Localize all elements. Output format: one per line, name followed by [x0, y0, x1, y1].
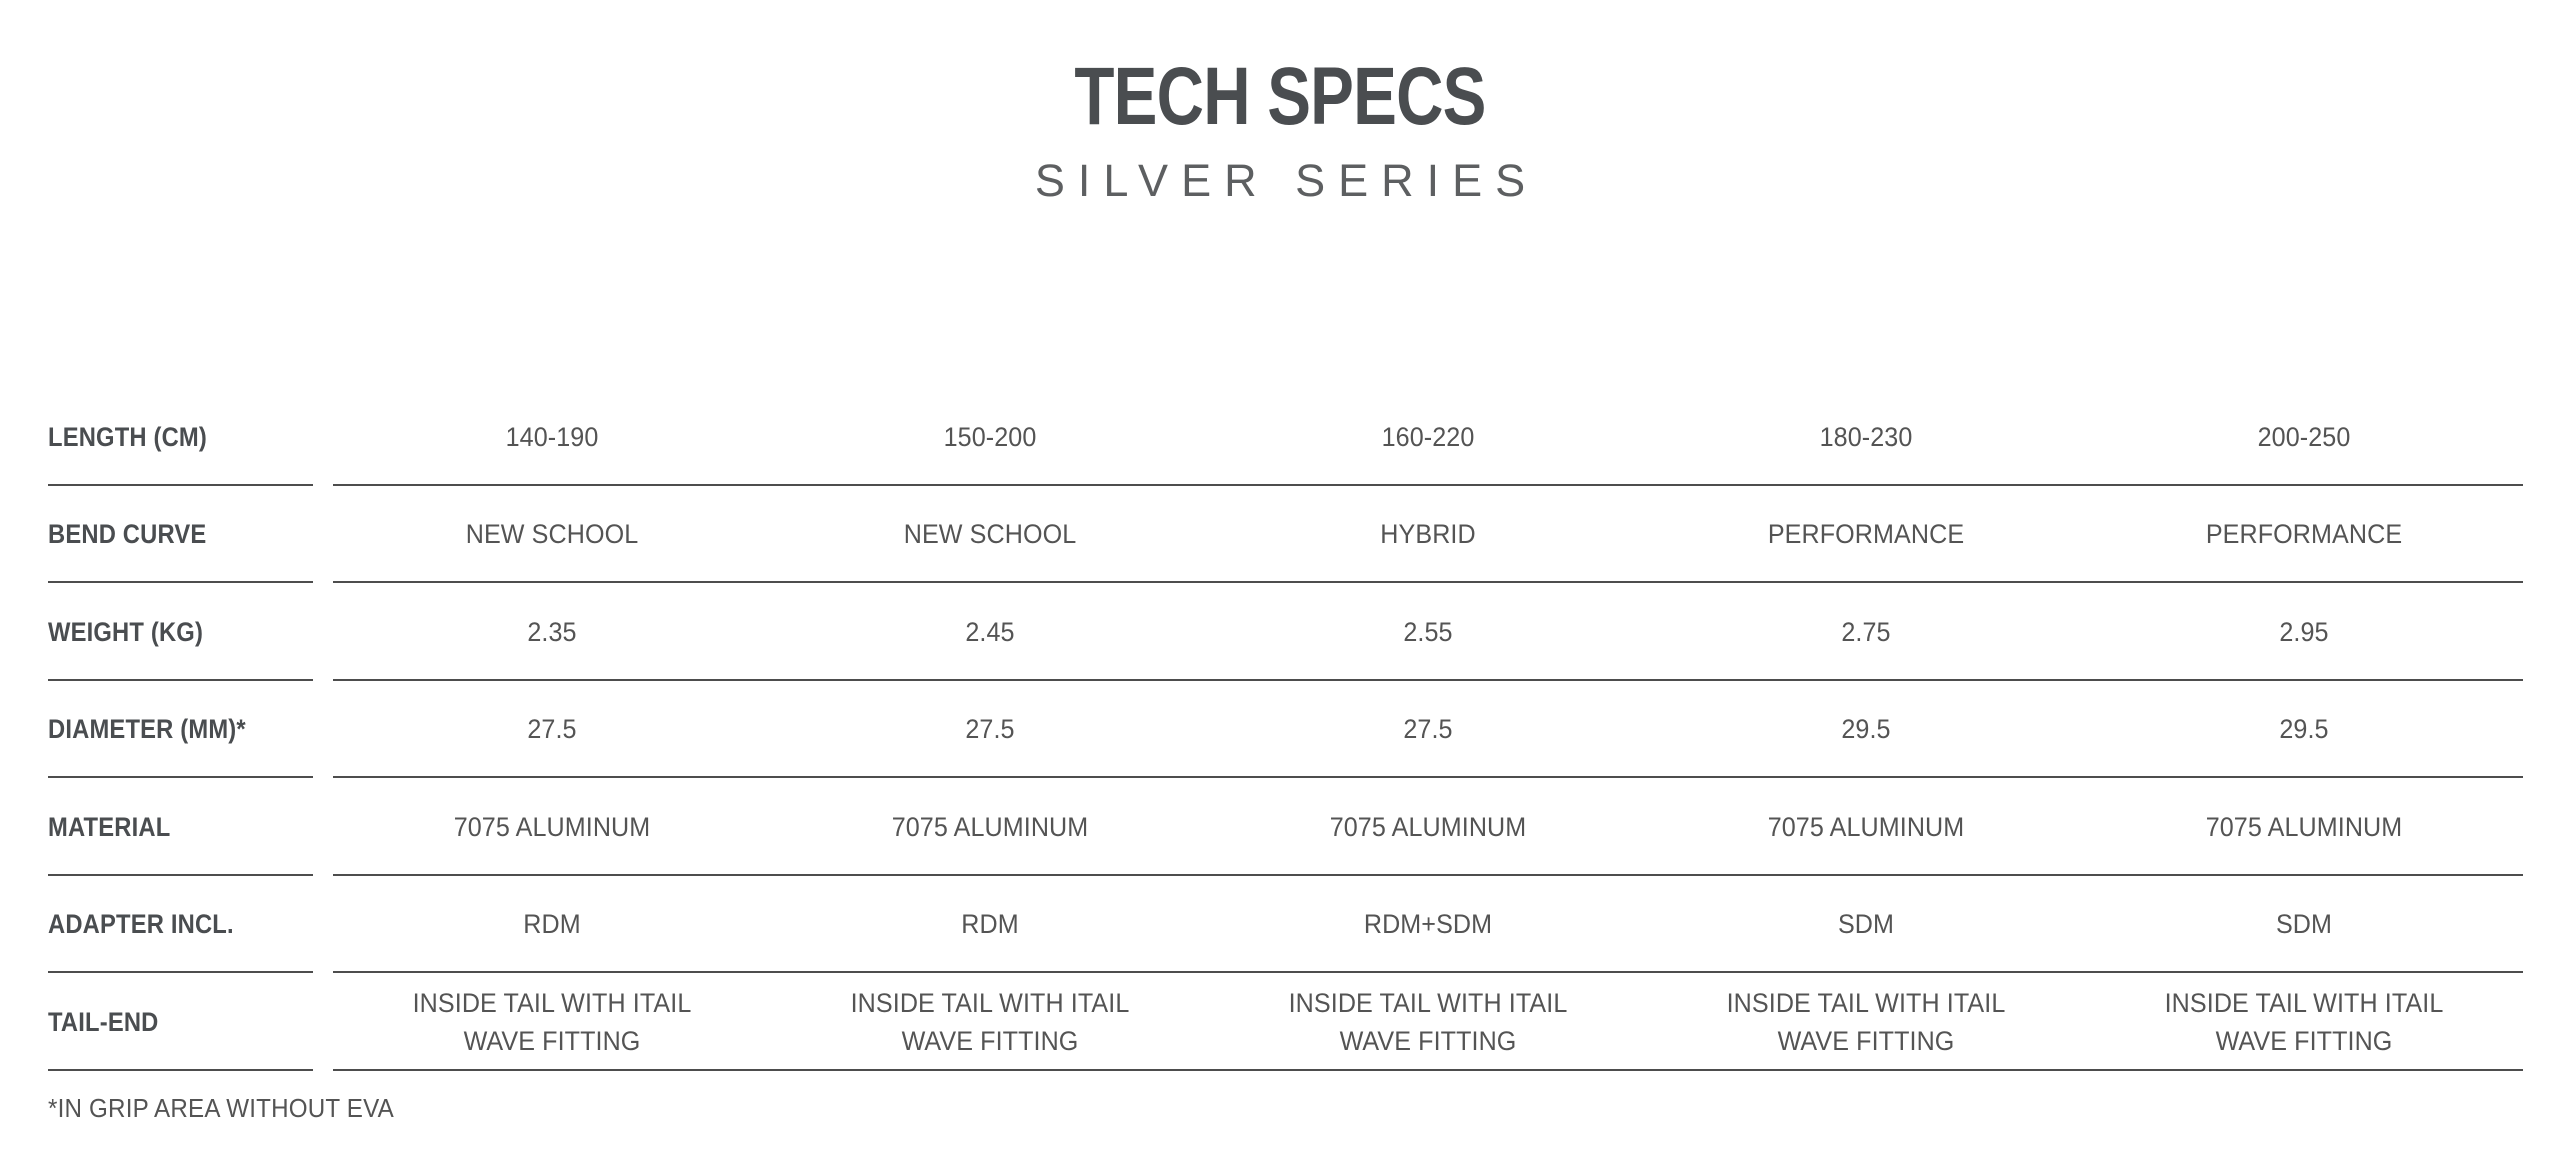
row-label-adapter: ADAPTER INCL. — [48, 876, 282, 974]
cell-tail-end-4-line2: WAVE FITTING — [1662, 1022, 2069, 1060]
cell-length-3: 160-220 — [1224, 418, 1631, 456]
row-values-bend-curve: NEW SCHOOL NEW SCHOOL HYBRID PERFORMANCE… — [333, 486, 2523, 584]
row-values-diameter: 27.5 27.5 27.5 29.5 29.5 — [333, 681, 2523, 779]
row-label-weight: WEIGHT (KG) — [48, 583, 282, 681]
page-header: TECH SPECS SILVER SERIES — [0, 54, 2560, 206]
cell-length-2: 150-200 — [786, 418, 1193, 456]
table-row: MATERIAL 7075 ALUMINUM 7075 ALUMINUM 707… — [0, 778, 2560, 876]
table-row: BEND CURVE NEW SCHOOL NEW SCHOOL HYBRID … — [0, 486, 2560, 584]
cell-adapter-4: SDM — [1662, 905, 2069, 943]
row-divider-data — [333, 1069, 2523, 1071]
cell-tail-end-2-line1: INSIDE TAIL WITH ITAIL — [786, 984, 1193, 1022]
row-values-material: 7075 ALUMINUM 7075 ALUMINUM 7075 ALUMINU… — [333, 778, 2523, 876]
table-row: LENGTH (CM) 140-190 150-200 160-220 180-… — [0, 388, 2560, 486]
footnote: *IN GRIP AREA WITHOUT EVA — [48, 1093, 394, 1123]
spec-table: LENGTH (CM) 140-190 150-200 160-220 180-… — [0, 388, 2560, 1071]
cell-weight-3: 2.55 — [1224, 613, 1631, 651]
cell-material-3: 7075 ALUMINUM — [1224, 808, 1631, 846]
cell-length-4: 180-230 — [1662, 418, 2069, 456]
cell-diameter-4: 29.5 — [1662, 710, 2069, 748]
row-label-diameter: DIAMETER (MM)* — [48, 681, 282, 779]
cell-tail-end-3-line1: INSIDE TAIL WITH ITAIL — [1224, 984, 1631, 1022]
row-values-weight: 2.35 2.45 2.55 2.75 2.95 — [333, 583, 2523, 681]
cell-tail-end-5-line2: WAVE FITTING — [2100, 1022, 2507, 1060]
cell-bend-curve-3: HYBRID — [1224, 515, 1631, 553]
table-row: TAIL-END INSIDE TAIL WITH ITAIL WAVE FIT… — [0, 973, 2560, 1071]
cell-adapter-1: RDM — [348, 905, 755, 943]
cell-tail-end-1-line2: WAVE FITTING — [348, 1022, 755, 1060]
cell-bend-curve-4: PERFORMANCE — [1662, 515, 2069, 553]
row-label-tail-end: TAIL-END — [48, 973, 282, 1071]
cell-bend-curve-5: PERFORMANCE — [2100, 515, 2507, 553]
row-values-tail-end: INSIDE TAIL WITH ITAIL WAVE FITTING INSI… — [333, 973, 2523, 1071]
cell-bend-curve-2: NEW SCHOOL — [786, 515, 1193, 553]
cell-tail-end-2: INSIDE TAIL WITH ITAIL WAVE FITTING — [786, 984, 1193, 1060]
cell-tail-end-5-line1: INSIDE TAIL WITH ITAIL — [2100, 984, 2507, 1022]
cell-diameter-5: 29.5 — [2100, 710, 2507, 748]
cell-tail-end-1-line1: INSIDE TAIL WITH ITAIL — [348, 984, 755, 1022]
cell-tail-end-3-line2: WAVE FITTING — [1224, 1022, 1631, 1060]
tech-specs-page: TECH SPECS SILVER SERIES LENGTH (CM) 140… — [0, 0, 2560, 1161]
page-title: TECH SPECS — [256, 54, 2304, 140]
cell-tail-end-4: INSIDE TAIL WITH ITAIL WAVE FITTING — [1662, 984, 2069, 1060]
table-row: DIAMETER (MM)* 27.5 27.5 27.5 29.5 29.5 — [0, 681, 2560, 779]
cell-tail-end-1: INSIDE TAIL WITH ITAIL WAVE FITTING — [348, 984, 755, 1060]
cell-bend-curve-1: NEW SCHOOL — [348, 515, 755, 553]
cell-adapter-2: RDM — [786, 905, 1193, 943]
cell-tail-end-5: INSIDE TAIL WITH ITAIL WAVE FITTING — [2100, 984, 2507, 1060]
cell-weight-4: 2.75 — [1662, 613, 2069, 651]
cell-material-1: 7075 ALUMINUM — [348, 808, 755, 846]
cell-material-4: 7075 ALUMINUM — [1662, 808, 2069, 846]
cell-adapter-3: RDM+SDM — [1224, 905, 1631, 943]
row-label-material: MATERIAL — [48, 778, 282, 876]
row-values-adapter: RDM RDM RDM+SDM SDM SDM — [333, 876, 2523, 974]
cell-weight-1: 2.35 — [348, 613, 755, 651]
cell-diameter-1: 27.5 — [348, 710, 755, 748]
cell-diameter-2: 27.5 — [786, 710, 1193, 748]
row-label-length: LENGTH (CM) — [48, 388, 282, 486]
table-row: WEIGHT (KG) 2.35 2.45 2.55 2.75 2.95 — [0, 583, 2560, 681]
row-label-bend-curve: BEND CURVE — [48, 486, 282, 584]
row-values-length: 140-190 150-200 160-220 180-230 200-250 — [333, 388, 2523, 486]
cell-material-5: 7075 ALUMINUM — [2100, 808, 2507, 846]
cell-length-1: 140-190 — [348, 418, 755, 456]
cell-material-2: 7075 ALUMINUM — [786, 808, 1193, 846]
row-divider-label — [48, 1069, 313, 1071]
cell-tail-end-4-line1: INSIDE TAIL WITH ITAIL — [1662, 984, 2069, 1022]
table-row: ADAPTER INCL. RDM RDM RDM+SDM SDM SDM — [0, 876, 2560, 974]
cell-weight-2: 2.45 — [786, 613, 1193, 651]
cell-length-5: 200-250 — [2100, 418, 2507, 456]
cell-adapter-5: SDM — [2100, 905, 2507, 943]
cell-diameter-3: 27.5 — [1224, 710, 1631, 748]
cell-tail-end-3: INSIDE TAIL WITH ITAIL WAVE FITTING — [1224, 984, 1631, 1060]
page-subtitle: SILVER SERIES — [0, 156, 2560, 206]
cell-tail-end-2-line2: WAVE FITTING — [786, 1022, 1193, 1060]
cell-weight-5: 2.95 — [2100, 613, 2507, 651]
